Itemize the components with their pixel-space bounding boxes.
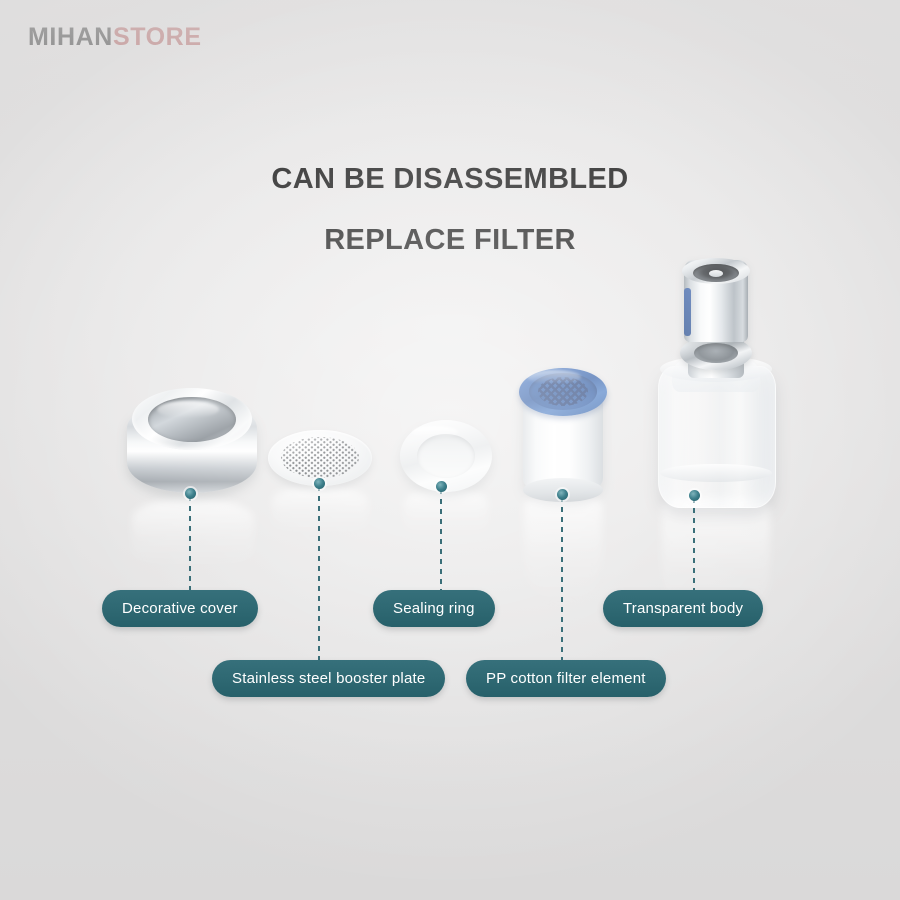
part-transparent-body bbox=[658, 258, 774, 506]
label-text: Transparent body bbox=[623, 600, 743, 617]
reflection-decorative-cover bbox=[132, 498, 254, 570]
connector-dot-icon bbox=[689, 490, 700, 501]
chrome-cap-gloss-icon bbox=[157, 401, 219, 418]
label-pp-cotton-filter-element[interactable]: PP cotton filter element bbox=[466, 660, 666, 697]
connector-dot-icon bbox=[185, 488, 196, 499]
filter-cap-gloss-icon bbox=[527, 370, 581, 384]
label-stainless-steel-booster-plate[interactable]: Stainless steel booster plate bbox=[212, 660, 445, 697]
product-infographic: MIHANSTORE CAN BE DISASSEMBLED REPLACE F… bbox=[0, 0, 900, 900]
connector-dashed-line bbox=[440, 489, 442, 600]
part-decorative-cover bbox=[127, 388, 257, 503]
brand-logo: MIHANSTORE bbox=[28, 23, 202, 52]
label-text: Sealing ring bbox=[393, 600, 475, 617]
label-text: Stainless steel booster plate bbox=[232, 670, 425, 687]
transparent-housing-band-icon bbox=[660, 464, 772, 482]
swivel-blue-stripe-icon bbox=[684, 288, 691, 336]
connector-dashed-line bbox=[189, 496, 191, 600]
reflection-sealing-ring bbox=[404, 488, 488, 540]
booster-plate-sheen-icon bbox=[281, 437, 359, 478]
sealing-ring-highlight-icon bbox=[412, 426, 458, 438]
connector-dot-icon bbox=[436, 481, 447, 492]
swivel-bore-center-icon bbox=[709, 270, 723, 277]
chrome-collar-hole-icon bbox=[694, 343, 738, 363]
label-transparent-body[interactable]: Transparent body bbox=[603, 590, 763, 627]
sealing-ring-inner-icon bbox=[417, 434, 475, 478]
connector-dashed-line bbox=[561, 497, 563, 670]
reflection-booster-plate bbox=[272, 486, 368, 536]
brand-logo-secondary: STORE bbox=[113, 23, 202, 51]
connector-dot-icon bbox=[557, 489, 568, 500]
headline-line-1: CAN BE DISASSEMBLED bbox=[0, 163, 900, 196]
label-text: PP cotton filter element bbox=[486, 670, 646, 687]
headline-line-2: REPLACE FILTER bbox=[0, 224, 900, 257]
reflection-filter-element bbox=[524, 494, 602, 606]
connector-dot-icon bbox=[314, 478, 325, 489]
part-sealing-ring bbox=[400, 420, 492, 492]
connector-dashed-line bbox=[318, 486, 320, 670]
label-text: Decorative cover bbox=[122, 600, 238, 617]
brand-logo-primary: MIHAN bbox=[28, 23, 113, 51]
part-pp-cotton-filter-element bbox=[519, 362, 607, 502]
label-decorative-cover[interactable]: Decorative cover bbox=[102, 590, 258, 627]
connector-dashed-line bbox=[693, 498, 695, 600]
label-sealing-ring[interactable]: Sealing ring bbox=[373, 590, 495, 627]
